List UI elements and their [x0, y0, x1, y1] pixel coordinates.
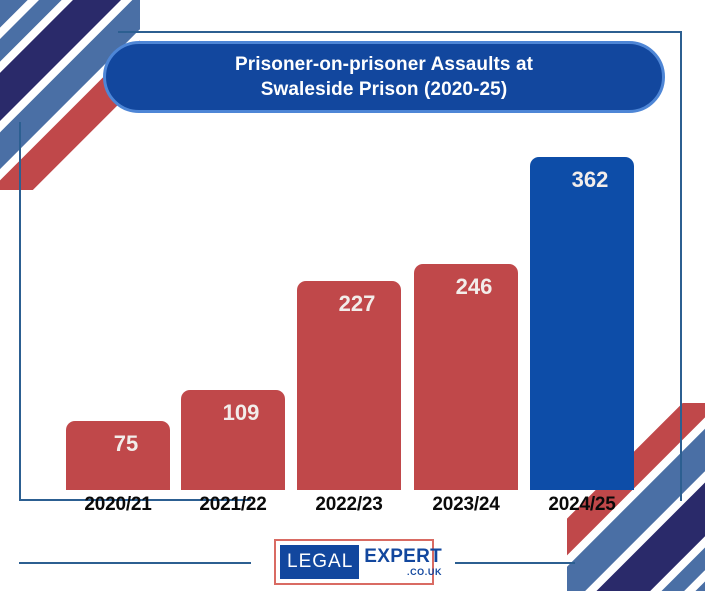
logo-expert-word: EXPERT: [364, 547, 442, 566]
logo-tld-text: .CO.UK: [407, 568, 442, 577]
chart-title-text: Prisoner-on-prisoner Assaults at Swalesi…: [235, 52, 533, 102]
bar-value-label: 75: [66, 431, 170, 457]
chart-title-line-2: Swaleside Prison (2020-25): [235, 77, 533, 102]
chart-title-line-1: Prisoner-on-prisoner Assaults at: [235, 52, 533, 77]
frame-line-bottom-left-lower: [19, 562, 251, 564]
logo-legal-word: LEGAL: [280, 545, 359, 579]
legal-expert-logo[interactable]: LEGAL EXPERT .CO.UK: [274, 539, 434, 585]
bar-chart-plot-area: 75109227246362: [19, 122, 681, 490]
bar-value-label: 246: [414, 274, 518, 300]
bar-2022-23: 227: [297, 281, 401, 490]
bar-value-label: 227: [297, 291, 401, 317]
category-label-2023-24: 2023/24: [404, 494, 528, 516]
category-label-2022-23: 2022/23: [287, 494, 411, 516]
category-label-2024-25: 2024/25: [520, 494, 644, 516]
logo-expert-group: EXPERT .CO.UK: [364, 547, 442, 577]
category-label-2021-22: 2021/22: [171, 494, 295, 516]
chart-title-banner: Prisoner-on-prisoner Assaults at Swalesi…: [103, 41, 665, 113]
frame-line-bottom-right: [455, 562, 575, 564]
infographic-canvas: Prisoner-on-prisoner Assaults at Swalesi…: [0, 0, 705, 591]
bar-value-label: 362: [530, 167, 634, 193]
bar-2020-21: 75: [66, 421, 170, 490]
bar-2024-25: 362: [530, 157, 634, 490]
bar-2021-22: 109: [181, 390, 285, 490]
category-label-2020-21: 2020/21: [56, 494, 180, 516]
bar-value-label: 109: [181, 400, 285, 426]
frame-line-top: [118, 31, 681, 33]
bar-2023-24: 246: [414, 264, 518, 490]
